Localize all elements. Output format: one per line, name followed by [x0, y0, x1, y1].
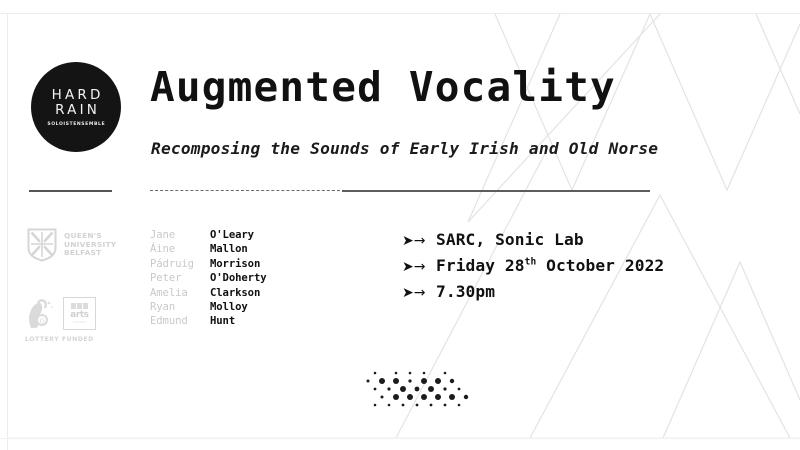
performer-last-name: O'Doherty: [210, 271, 267, 285]
performer-first-name: Áine: [150, 242, 210, 256]
performer-first-name: Pádruig: [150, 257, 210, 271]
performer-first-name: Jane: [150, 228, 210, 242]
performer-first-name: Amelia: [150, 286, 210, 300]
performer-last-name: Morrison: [210, 257, 260, 271]
performer-last-name: O'Leary: [210, 228, 254, 242]
performer-row: RyanMolloy: [150, 300, 267, 314]
event-detail-text: SARC, Sonic Lab: [436, 230, 584, 249]
event-detail-text: 7.30pm: [436, 282, 495, 301]
performer-row: JaneO'Leary: [150, 228, 267, 242]
logo-line-2: RAIN: [52, 103, 100, 118]
event-detail-row: ➤→7.30pm: [402, 280, 664, 306]
divider-right-solid: [342, 190, 650, 192]
performer-row: AmeliaClarkson: [150, 286, 267, 300]
performer-last-name: Hunt: [210, 314, 235, 328]
performer-row: EdmundHunt: [150, 314, 267, 328]
divider-left-solid: [29, 190, 112, 192]
double-arrow-bullet-icon: ➤→: [402, 228, 436, 254]
qub-line-3: BELFAST: [64, 249, 116, 257]
performer-row: PeterO'Doherty: [150, 271, 267, 285]
arts-council-wordmark: arts: [70, 311, 88, 320]
hard-rain-circle-logo: HARD RAIN SOLOISTENSEMBLE: [31, 62, 121, 152]
ordinal-suffix: th: [525, 257, 537, 268]
logo-line-1: HARD: [48, 88, 103, 103]
arts-council-blocks-icon: [71, 303, 89, 309]
double-arrow-bullet-icon: ➤→: [402, 280, 436, 306]
halftone-dot-pattern: [363, 368, 471, 414]
svg-text:G: G: [40, 317, 45, 325]
event-detail-row: ➤→SARC, Sonic Lab: [402, 228, 664, 254]
performer-row: ÁineMallon: [150, 242, 267, 256]
event-detail-row: ➤→Friday 28th October 2022: [402, 254, 664, 280]
page-subtitle: Recomposing the Sounds of Early Irish an…: [151, 139, 658, 158]
performer-last-name: Mallon: [210, 242, 248, 256]
performers-list: JaneO'LearyÁineMallonPádruigMorrisonPete…: [150, 228, 267, 329]
arts-council-logo: arts COUNCIL: [63, 297, 96, 330]
event-detail-text: Friday 28th October 2022: [436, 256, 664, 275]
performer-last-name: Clarkson: [210, 286, 260, 300]
qub-crest-icon: [27, 228, 57, 262]
lottery-funded-logo: G arts COUNCIL LOTTERY FUNDED: [25, 297, 96, 343]
performer-first-name: Peter: [150, 271, 210, 285]
event-poster: HARD RAIN SOLOISTENSEMBLE Augmented Voca…: [0, 0, 800, 450]
qub-wordmark: QUEEN'S UNIVERSITY BELFAST: [64, 232, 116, 257]
divider-dashed: [150, 190, 340, 191]
logo-subtext: SOLOISTENSEMBLE: [47, 122, 105, 127]
performer-first-name: Ryan: [150, 300, 210, 314]
page-title: Augmented Vocality: [150, 63, 616, 111]
queens-university-belfast-logo: QUEEN'S UNIVERSITY BELFAST: [27, 228, 116, 262]
lottery-crossed-fingers-icon: G: [25, 298, 55, 330]
arts-council-subtext: COUNCIL: [73, 320, 87, 324]
performer-row: PádruigMorrison: [150, 257, 267, 271]
event-details-list: ➤→SARC, Sonic Lab➤→Friday 28th October 2…: [402, 228, 664, 306]
double-arrow-bullet-icon: ➤→: [402, 254, 436, 280]
performer-first-name: Edmund: [150, 314, 210, 328]
lottery-funded-caption: LOTTERY FUNDED: [25, 336, 96, 343]
performer-last-name: Molloy: [210, 300, 248, 314]
